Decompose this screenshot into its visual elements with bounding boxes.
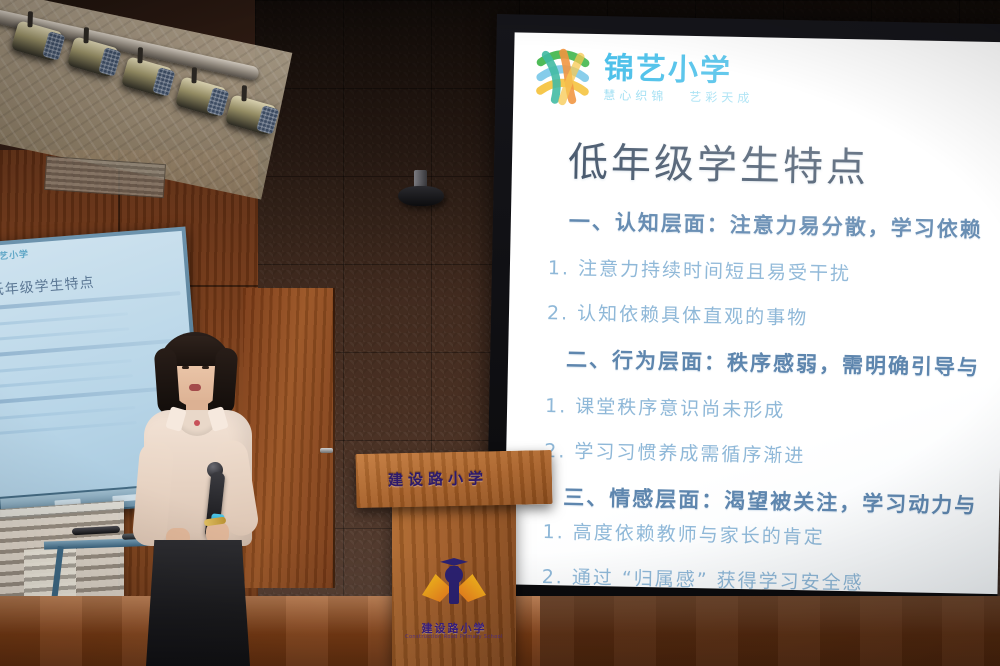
wall-speaker-icon	[398, 170, 444, 214]
door-handle-icon[interactable]	[320, 448, 333, 453]
slide-heading-1: 一、认知层面：注意力易分散，学习依赖	[511, 204, 1000, 244]
school-emblem-icon	[422, 544, 486, 616]
auditorium-photo: 锦艺小学 慧心织锦 艺彩天成 低年级学生特点 一、认知层面：注意力易分散，学习依…	[0, 0, 1000, 666]
slide-subitem-2-1: 1. 课堂秩序意识尚未形成	[507, 390, 1000, 427]
skirt	[146, 540, 250, 666]
presentation-slide: 锦艺小学 慧心织锦 艺彩天成 低年级学生特点 一、认知层面：注意力易分散，学习依…	[504, 32, 1000, 594]
school-logo: 锦艺小学 慧心织锦 艺彩天成	[531, 45, 754, 111]
slide-subitem-2-2: 2. 学习习惯养成需循序渐进	[506, 435, 1000, 472]
eye-right	[202, 366, 209, 369]
logo-tagline-right: 艺彩天成	[689, 90, 753, 103]
slide-title: 低年级学生特点	[568, 129, 870, 193]
woven-ribbon-logo-icon	[531, 45, 594, 108]
necklace	[194, 420, 200, 426]
logo-school-name: 锦艺小学	[604, 54, 755, 87]
slide-subitem-3-1: 1. 高度依赖教师与家长的肯定	[504, 516, 998, 553]
mouth	[189, 384, 201, 391]
emblem-english-name: Construction Road Primary School	[400, 634, 508, 640]
logo-tagline-left: 慧心织锦	[603, 89, 667, 102]
slide-heading-3: 三、情感层面：渴望被关注，学习动力与	[505, 480, 1000, 520]
slide-subitem-1-1: 1. 注意力持续时间短且易受干扰	[510, 252, 1000, 289]
slide-subitem-3-2: 2. 通过 “归属感” 获得学习安全感	[504, 561, 998, 594]
hair-right	[212, 347, 239, 414]
eye-left	[182, 366, 189, 369]
slide-body-list: 一、认知层面：注意力易分散，学习依赖 1. 注意力持续时间短且易受干扰 2. 认…	[504, 204, 1000, 594]
hair-left	[154, 347, 181, 414]
podium-top: 建设路小学	[355, 450, 552, 508]
logo-tagline: 慧心织锦 艺彩天成	[603, 89, 753, 104]
projection-screen[interactable]: 锦艺小学 慧心织锦 艺彩天成 低年级学生特点 一、认知层面：注意力易分散，学习依…	[485, 14, 1000, 628]
podium-body: 建设路小学 Construction Road Primary School	[392, 502, 516, 666]
monitor-logo-text: 锦艺小学	[0, 247, 30, 263]
floor-shadow	[540, 596, 1000, 666]
monitor-slide-title: 低年级学生特点	[0, 272, 95, 300]
slide-heading-2: 二、行为层面：秩序感弱，需明确引导与	[508, 342, 1000, 382]
presenter	[132, 332, 260, 666]
slide-subitem-1-2: 2. 认知依赖具体直观的事物	[509, 297, 1000, 334]
podium-sign-text: 建设路小学	[388, 467, 518, 491]
